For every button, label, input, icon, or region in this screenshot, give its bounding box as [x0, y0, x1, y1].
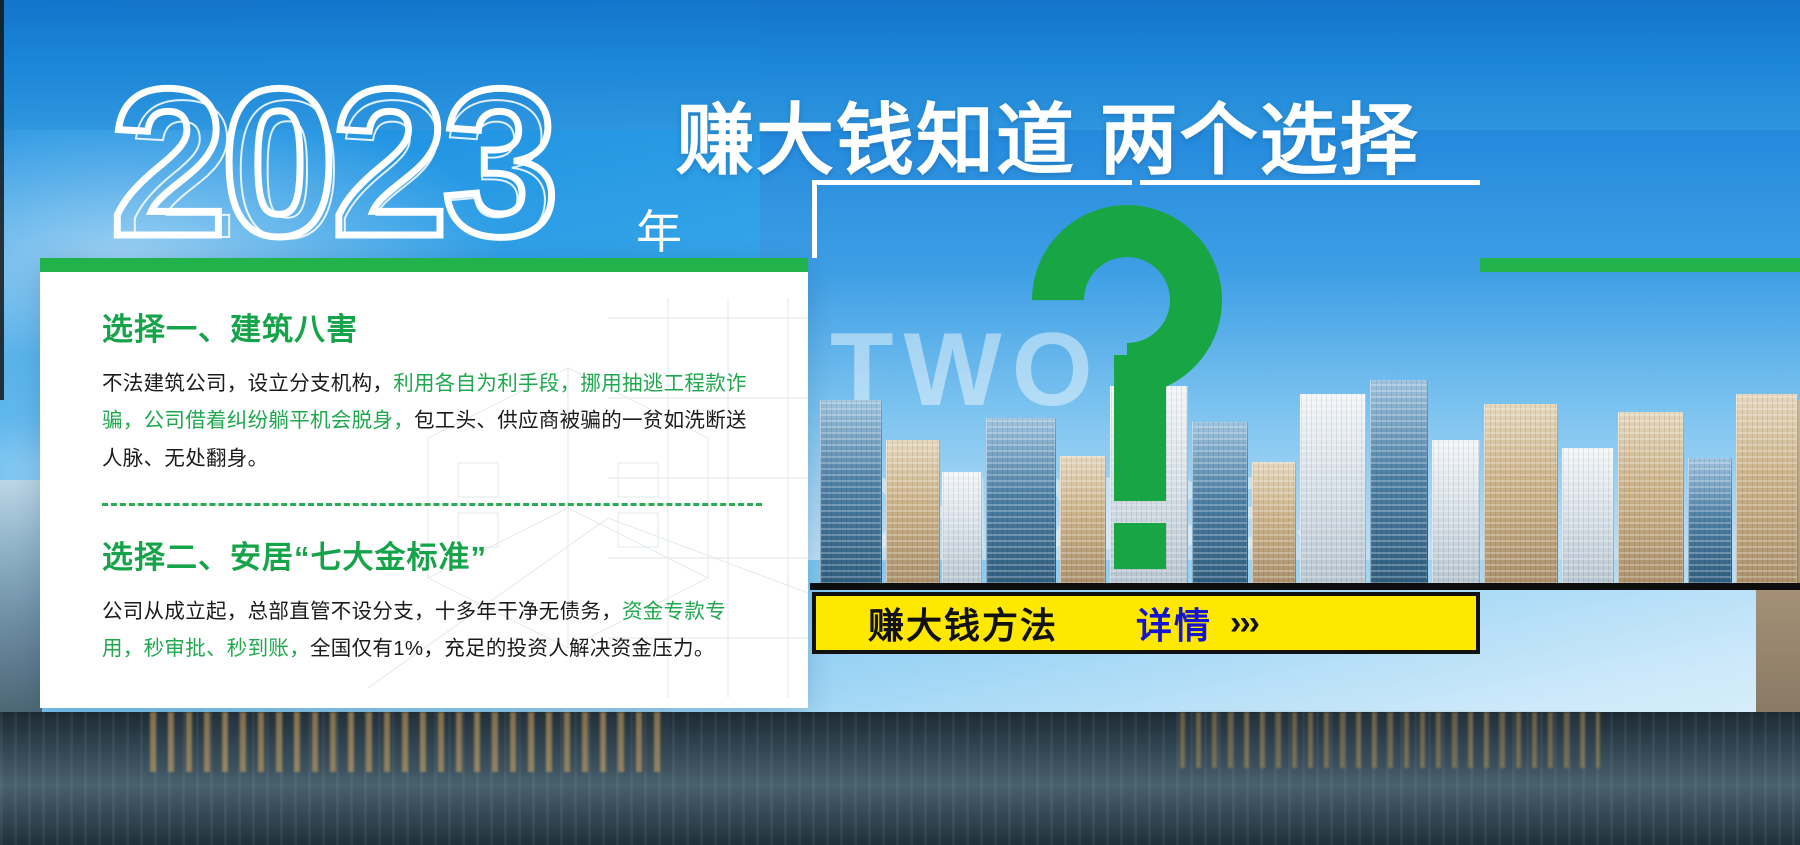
- frame-rule-left-vertical: [812, 180, 817, 258]
- section-one-part-1: 不法建筑公司，设立分支机构，: [102, 372, 393, 395]
- cta-detail-link[interactable]: 详情: [1136, 597, 1212, 649]
- section-one-title: 选择一、建筑八害: [102, 304, 762, 349]
- section-two-part-1: 公司从成立起，总部直管不设分支，十多年干净无债务，: [102, 600, 622, 623]
- card-top-accent: [40, 258, 808, 272]
- year-suffix-label: 年: [636, 196, 682, 262]
- section-two-title: 选择二、安居“七大金标准”: [102, 532, 762, 577]
- cta-bar[interactable]: 赚大钱方法 详情 ›››: [812, 592, 1480, 654]
- section-one-body: 不法建筑公司，设立分支机构，利用各自为利手段，挪用抽逃工程款诈骗，公司借着纠纷躺…: [102, 365, 762, 477]
- section-two-part-3: 全国仅有1%，充足的投资人解决资金压力。: [310, 637, 715, 660]
- frame-rule-left: [812, 180, 1132, 185]
- frame-rule-right: [1140, 180, 1480, 185]
- bottom-strip-highlight-left: [150, 712, 670, 772]
- cta-main-label: 赚大钱方法: [868, 597, 1058, 649]
- left-edge-scenery: [0, 480, 42, 712]
- chevron-right-icon: ›››: [1230, 604, 1258, 643]
- bottom-strip-highlight-right: [1180, 712, 1600, 768]
- year-outline: 2023: [110, 58, 553, 268]
- frame-rule-middle-vertical: [0, 0, 4, 400]
- content-card: 选择一、建筑八害 不法建筑公司，设立分支机构，利用各自为利手段，挪用抽逃工程款诈…: [40, 258, 808, 708]
- page-title: 赚大钱知道 两个选择: [676, 78, 1420, 190]
- green-accent-bar-right: [1480, 258, 1800, 272]
- city-baseline: [810, 583, 1800, 590]
- city-skyline-photo: [810, 380, 1800, 590]
- section-two-body: 公司从成立起，总部直管不设分支，十多年干净无债务，资金专款专用，秒审批、秒到账，…: [102, 593, 762, 668]
- section-divider: [102, 503, 762, 506]
- question-mark-icon: [1010, 205, 1280, 565]
- banner-stage: 2023 2023 年 赚大钱知道 两个选择 TWO CHOICES: [0, 0, 1800, 845]
